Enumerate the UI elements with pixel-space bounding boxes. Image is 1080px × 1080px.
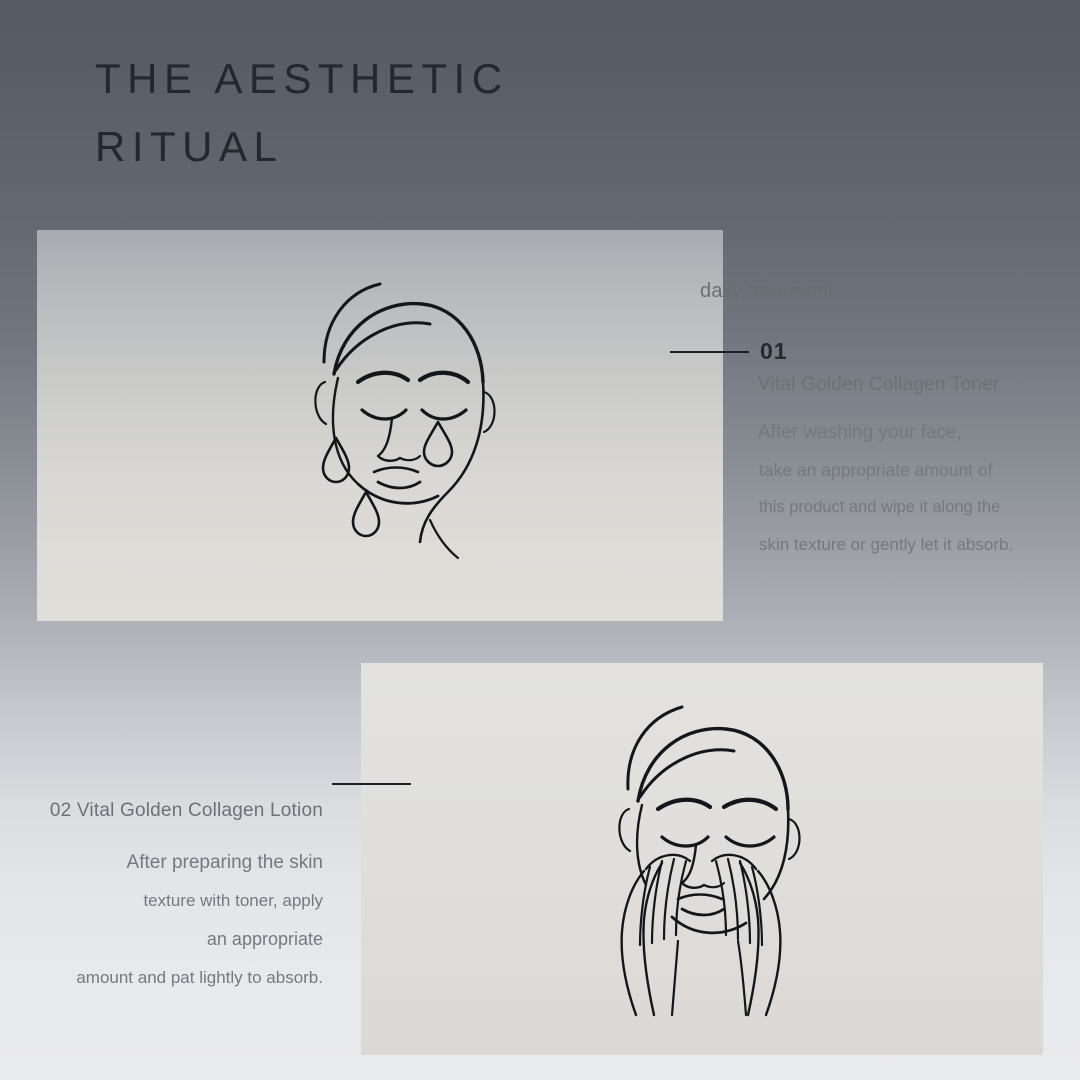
description-line: an appropriate (30, 929, 323, 950)
step-two-description: After preparing the skin texture with to… (30, 852, 323, 988)
step-two-divider-rule (332, 783, 411, 785)
description-line: texture with toner, apply (30, 891, 323, 911)
step-one-number: 01 (760, 338, 788, 365)
step-two-product-name: 02 Vital Golden Collagen Lotion (30, 800, 323, 822)
step-one-product-name: Vital Golden Collagen Toner (758, 374, 999, 396)
step-two-text-block: 02 Vital Golden Collagen Lotion After pr… (30, 800, 323, 988)
step-one-divider-rule (670, 351, 749, 353)
page-title: THE AESTHETIC RITUAL (95, 45, 715, 181)
face-with-hands-patting-icon (566, 693, 836, 1023)
face-with-teardrops-icon (262, 270, 522, 570)
section-eyebrow: daily treatment (700, 280, 1030, 303)
image-panel-step-one (37, 230, 723, 621)
description-line: After preparing the skin (30, 852, 323, 874)
description-line: take an appropriate amount of (759, 460, 1028, 481)
description-line: After washing your face, (758, 422, 1028, 444)
description-line: amount and pat lightly to absorb. (30, 968, 323, 988)
step-one-text-block: daily treatment 01 Vital Golden Collagen… (700, 280, 1030, 303)
poster-canvas: THE AESTHETIC RITUAL (0, 0, 1080, 1080)
description-line: skin texture or gently let it absorb. (759, 535, 1028, 555)
image-panel-step-two (361, 663, 1043, 1055)
step-one-description: After washing your face, take an appropr… (758, 422, 1028, 555)
description-line: this product and wipe it along the (759, 498, 1028, 517)
